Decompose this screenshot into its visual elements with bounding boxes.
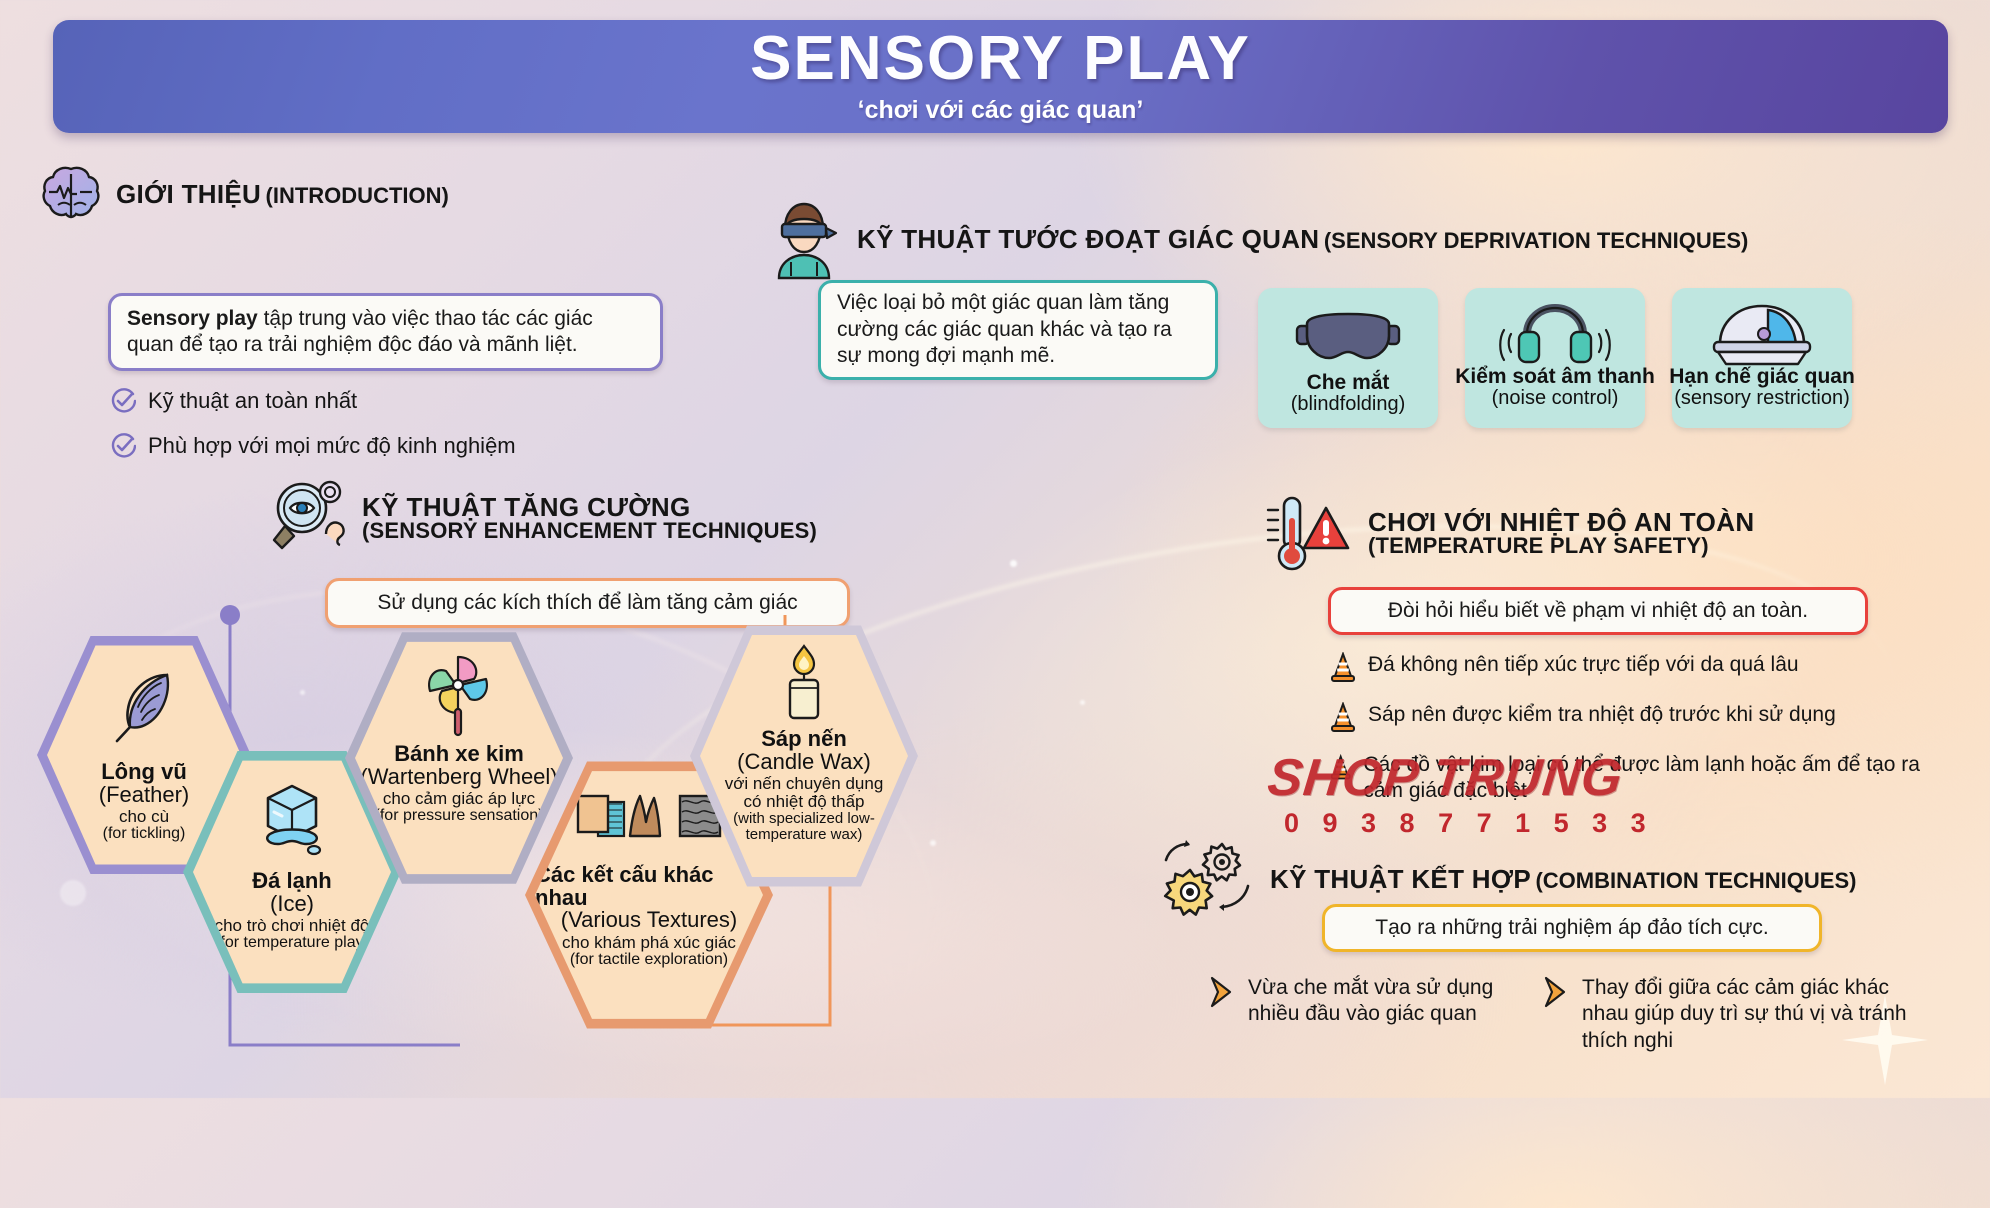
temperature-callout: Đòi hỏi hiểu biết về phạm vi nhiệt độ an… [1328, 587, 1868, 635]
enhancement-callout-text: Sử dụng các kích thích để làm tăng cảm g… [377, 590, 797, 616]
combination-callout-text: Tạo ra những trải nghiệm áp đảo tích cực… [1375, 915, 1769, 941]
enhancement-item-label-vi: Lông vũ [101, 761, 187, 784]
intro-callout-bold: Sensory play [127, 307, 258, 330]
combination-bullet: Thay đổi giữa các cảm giác khác nhau giú… [1540, 975, 1940, 1054]
enhancement-item-label-vi: Đá lạnh [252, 870, 331, 893]
intro-section-heading: GIỚI THIỆU (INTRODUCTION) [40, 165, 449, 223]
sparkle [1010, 560, 1017, 567]
deprivation-card-label-en: (sensory restriction) [1674, 388, 1850, 410]
chevron-right-icon [1206, 975, 1236, 1009]
headphones-icon [1497, 302, 1613, 364]
intro-check-item: Kỹ thuật an toàn nhất [110, 388, 357, 414]
enhancement-title-en: (SENSORY ENHANCEMENT TECHNIQUES) [362, 520, 817, 542]
feather-icon [109, 669, 179, 747]
deprivation-card-label-vi: Hạn chế giác quan [1669, 366, 1855, 388]
title-banner: SENSORY PLAY ‘chơi với các giác quan’ [53, 20, 1948, 133]
traffic-cone-icon [1330, 702, 1356, 732]
intro-title-en: (INTRODUCTION) [266, 183, 449, 208]
temperature-title: CHƠI VỚI NHIỆT ĐỘ AN TOÀN (TEMPERATURE P… [1368, 509, 1755, 558]
enhancement-item-sub-en: (with specialized low-temperature wax) [723, 811, 885, 843]
watermark-brand: SHOP TRUNG [1265, 748, 1626, 808]
check-circle-icon [110, 433, 136, 459]
candle-icon [778, 642, 830, 722]
enhancement-item-sub-vi: với nến chuyên dụng có nhiệt độ thấp [718, 775, 890, 811]
temperature-title-vi: CHƠI VỚI NHIỆT ĐỘ AN TOÀN [1368, 509, 1755, 536]
watermark-phone: 0 9 3 8 7 7 1 5 3 3 [1284, 808, 1654, 839]
deprivation-card-label-vi: Che mắt [1307, 372, 1390, 394]
temperature-title-en: (TEMPERATURE PLAY SAFETY) [1368, 535, 1755, 557]
sensory-hood-icon [1704, 300, 1820, 366]
combination-bullet: Vừa che mắt vừa sử dụng nhiều đầu vào gi… [1206, 975, 1526, 1028]
enhancement-item-label-vi: Bánh xe kim [394, 743, 524, 766]
combination-bullet-text: Vừa che mắt vừa sử dụng nhiều đầu vào gi… [1248, 975, 1526, 1028]
enhancement-item-sub-en: (for tactile exploration) [570, 952, 728, 969]
enhancement-title: KỸ THUẬT TĂNG CƯỜNG (SENSORY ENHANCEMENT… [362, 494, 817, 543]
page-subtitle: ‘chơi với các giác quan’ [858, 96, 1144, 125]
sparkle [930, 840, 936, 846]
sparkle [1080, 700, 1085, 705]
sparkle [300, 690, 305, 695]
intro-title: GIỚI THIỆU (INTRODUCTION) [116, 181, 449, 208]
deprivation-callout-text: Việc loại bỏ một giác quan làm tăng cườn… [837, 290, 1199, 369]
enhancement-item-label-en: (Wartenberg Wheel) [360, 766, 557, 789]
temperature-bullet-text: Sáp nên được kiểm tra nhiệt độ trước khi… [1368, 702, 1836, 728]
sleep-mask-icon [1293, 306, 1403, 368]
enhancement-item-sub-vi: cho trò chơi nhiệt độ [215, 917, 370, 935]
textures-icon [570, 788, 728, 854]
enhancement-item-sub-en: (for pressure sensation) [375, 808, 544, 825]
enhancement-item-label-en: (Feather) [99, 784, 189, 807]
enhancement-item-sub-vi: cho khám phá xúc giác [562, 934, 736, 952]
combination-title-en: (COMBINATION TECHNIQUES) [1535, 868, 1856, 893]
enhancement-item-label-en: (Various Textures) [561, 909, 737, 932]
gears-icon [1160, 836, 1256, 922]
intro-title-vi: GIỚI THIỆU [116, 179, 261, 209]
enhancement-item-sub-vi: cho cù [119, 808, 169, 826]
combination-bullet-text: Thay đổi giữa các cảm giác khác nhau giú… [1582, 975, 1940, 1054]
temperature-callout-text: Đòi hỏi hiểu biết về phạm vi nhiệt độ an… [1388, 598, 1808, 624]
blindfolded-person-icon [765, 198, 843, 280]
combination-callout: Tạo ra những trải nghiệm áp đảo tích cực… [1322, 904, 1822, 952]
chevron-right-icon [1540, 975, 1570, 1009]
temperature-bullet: Sáp nên được kiểm tra nhiệt độ trước khi… [1330, 702, 1980, 732]
deprivation-card-sensory-restriction[interactable]: Hạn chế giác quan (sensory restriction) [1672, 288, 1852, 428]
thermometer-warning-icon [1262, 492, 1354, 574]
enhancement-callout: Sử dụng các kích thích để làm tăng cảm g… [325, 578, 850, 628]
deprivation-card-blindfolding[interactable]: Che mắt (blindfolding) [1258, 288, 1438, 428]
temperature-bullet: Đá không nên tiếp xúc trực tiếp với da q… [1330, 652, 1950, 682]
intro-check-item: Phù hợp với mọi mức độ kinh nghiệm [110, 433, 516, 459]
deprivation-title-vi: KỸ THUẬT TƯỚC ĐOẠT GIÁC QUAN [857, 224, 1319, 254]
combination-title-vi: KỸ THUẬT KẾT HỢP [1270, 864, 1531, 894]
deprivation-card-label-vi: Kiểm soát âm thanh [1455, 366, 1655, 388]
deprivation-title-en: (SENSORY DEPRIVATION TECHNIQUES) [1324, 228, 1749, 253]
enhancement-section-heading: KỸ THUẬT TĂNG CƯỜNG (SENSORY ENHANCEMENT… [268, 478, 817, 558]
enhancement-item-sub-vi: cho cảm giác áp lực [383, 790, 535, 808]
enhancement-item-sub-en: (for tickling) [103, 826, 186, 843]
enhancement-item-label-en: (Candle Wax) [737, 751, 871, 774]
brain-icon [40, 165, 102, 223]
enhancement-item-label-vi: Các kết cấu khác nhau [535, 864, 763, 909]
intro-callout: Sensory play tập trung vào việc thao tác… [108, 293, 663, 371]
deprivation-card-label-en: (noise control) [1492, 388, 1619, 410]
intro-check-label: Phù hợp với mọi mức độ kinh nghiệm [148, 433, 516, 459]
enhancement-item-label-vi: Sáp nến [761, 728, 847, 751]
enhancement-item-sub-en: (for temperature play) [215, 935, 369, 952]
check-circle-icon [110, 388, 136, 414]
enhancement-title-vi: KỸ THUẬT TĂNG CƯỜNG [362, 494, 817, 521]
magnifier-eye-ear-icon [268, 478, 348, 558]
temperature-bullet-text: Đá không nên tiếp xúc trực tiếp với da q… [1368, 652, 1799, 678]
combination-title: KỸ THUẬT KẾT HỢP (COMBINATION TECHNIQUES… [1270, 866, 1856, 893]
deprivation-section-heading: KỸ THUẬT TƯỚC ĐOẠT GIÁC QUAN (SENSORY DE… [765, 198, 1748, 280]
deprivation-title: KỸ THUẬT TƯỚC ĐOẠT GIÁC QUAN (SENSORY DE… [857, 226, 1748, 253]
deprivation-card-noise-control[interactable]: Kiểm soát âm thanh (noise control) [1465, 288, 1645, 428]
deprivation-card-label-en: (blindfolding) [1291, 394, 1406, 416]
intro-check-label: Kỹ thuật an toàn nhất [148, 388, 357, 414]
temperature-section-heading: CHƠI VỚI NHIỆT ĐỘ AN TOÀN (TEMPERATURE P… [1262, 492, 1755, 574]
enhancement-item-label-en: (Ice) [270, 893, 314, 916]
deprivation-callout: Việc loại bỏ một giác quan làm tăng cườn… [818, 280, 1218, 380]
ice-cube-icon [258, 782, 326, 858]
sparkle [60, 880, 86, 906]
traffic-cone-icon [1330, 652, 1356, 682]
pinwheel-icon [422, 653, 496, 737]
page-title: SENSORY PLAY [750, 28, 1251, 90]
